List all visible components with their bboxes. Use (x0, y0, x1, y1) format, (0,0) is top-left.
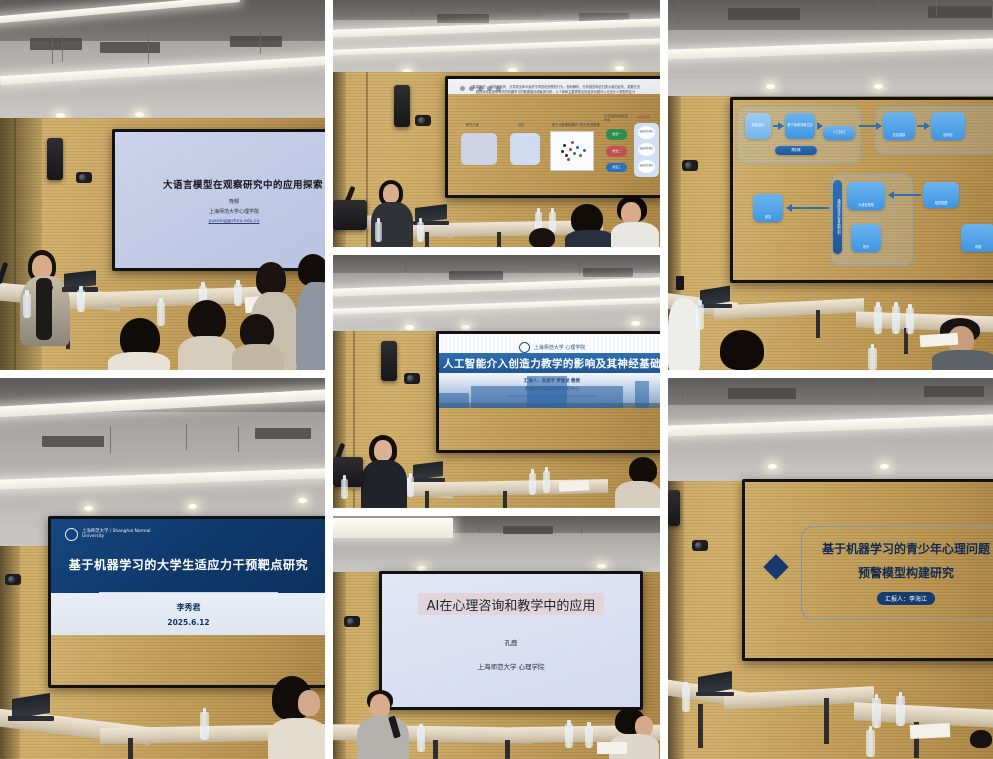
toolbar-icon (460, 86, 465, 91)
slide-cluster-box: 类型一 (606, 129, 627, 140)
table-leg (497, 232, 501, 247)
downlight (597, 564, 606, 569)
diamond-accent (763, 554, 788, 579)
wall-speaker (668, 490, 680, 526)
room-scene: AI在心理咨询和教学中的应用 孔鹿 上海师范大学 心理学院 (333, 516, 660, 759)
water-bottle (407, 477, 414, 497)
slide-title-line-2: 预警模型构建研究 (858, 565, 954, 582)
head (298, 690, 320, 716)
torso (108, 352, 170, 370)
ceiling-vent (728, 8, 800, 20)
photo-top-middle[interactable]: "集成效应"、风险的症状、分异类全体中最终不同的检测预知行为，剖析解析，分析描述… (333, 0, 660, 247)
torso (615, 481, 660, 507)
water-bottle (565, 724, 573, 748)
audience-member (525, 228, 565, 247)
logo-text: 上海师范大学 / Shanghai Normal University (82, 530, 160, 540)
ceiling-rod (878, 378, 879, 396)
photo-top-right[interactable]: 原始语料 基于领域词典过滤 人工标注 预训练 信息抽取 结构化 大语言模型 相关… (668, 0, 993, 370)
scatter-plot (550, 131, 594, 171)
data-point (573, 152, 576, 155)
wall-speaker (394, 85, 410, 127)
av-equipment (333, 200, 367, 230)
document (559, 481, 589, 493)
slide-footer: 李秀君 2025.6.12 (51, 593, 325, 635)
downlight (766, 84, 775, 89)
campus-building (635, 381, 649, 408)
water-bottle (200, 712, 209, 740)
toolbar-icon (496, 86, 501, 91)
downlight (880, 464, 889, 469)
campus-building (439, 393, 469, 408)
water-bottle (872, 698, 881, 728)
phone (676, 276, 684, 290)
audience-member (565, 204, 615, 247)
ceiling-camera (415, 115, 431, 126)
hair (256, 262, 286, 296)
ceiling-rod (405, 255, 406, 273)
ceiling-camera (5, 574, 21, 585)
audience-member (268, 676, 325, 759)
data-point (579, 154, 582, 157)
audience-member (611, 196, 659, 247)
ceiling-rod (579, 255, 580, 275)
ceiling-camera (76, 172, 92, 183)
water-bottle (696, 304, 704, 330)
flow-node-reply: 回复 (753, 194, 783, 222)
toolbar-icon (487, 86, 492, 91)
head (370, 694, 390, 718)
torso (357, 716, 409, 759)
flow-node-related-data: 相关数据 (923, 182, 959, 208)
data-point (569, 148, 572, 151)
torso (268, 718, 325, 759)
ceiling-rod (186, 424, 187, 450)
water-bottle (892, 306, 900, 334)
slide-title-band: AI在心理咨询和教学中的应用 (418, 593, 604, 615)
slide-content: 上海师范大学 / Shanghai Normal University 基于机器… (51, 519, 325, 635)
ceiling-vent (30, 38, 82, 50)
flow-node-llm: 大语言模型 (847, 182, 885, 210)
ceiling-rod (62, 36, 63, 62)
document (910, 723, 951, 739)
data-point (571, 141, 574, 144)
downlight (768, 464, 777, 469)
campus-illustration (439, 370, 660, 408)
ceiling-camera (404, 373, 420, 384)
collage-column-1: 大语言模型在观察研究中的应用探索 熊郁 上海师范大学心理学院 yuxiong@s… (0, 0, 325, 759)
table-leg (816, 310, 820, 338)
ceiling-rod (936, 0, 937, 16)
slide-col-header: 基于大数据机器学习的分布类数据 (552, 122, 600, 127)
data-point (563, 144, 566, 147)
head (383, 184, 399, 203)
hair (970, 730, 992, 748)
ceiling-vent (255, 428, 311, 439)
data-point (565, 154, 568, 157)
table-leg (505, 740, 510, 759)
slide-col-header: 临床表现 (638, 115, 650, 119)
audience-member (968, 730, 993, 759)
slide-presenter: 熊郁 (229, 198, 239, 205)
ceiling-vent (728, 388, 796, 399)
presentation-screen: 上海师范大学 / Shanghai Normal University 基于机器… (48, 516, 325, 688)
laptop (696, 674, 734, 698)
room-scene: 大语言模型在观察研究中的应用探索 熊郁 上海师范大学心理学院 yuxiong@s… (0, 0, 325, 370)
water-bottle (866, 730, 875, 757)
laptop (8, 696, 52, 722)
data-point (561, 150, 564, 153)
flow-arrow (889, 194, 921, 196)
campus-building (527, 376, 567, 408)
ceiling-vent (583, 268, 633, 277)
ceiling-camera (682, 160, 698, 171)
room-scene: 基于机器学习的青少年心理问题 预警模型构建研究 汇报人：李海江 2025.06.… (668, 378, 993, 759)
audience-member (296, 254, 325, 370)
slide-content: AI在心理咨询和教学中的应用 孔鹿 上海师范大学 心理学院 (382, 574, 640, 707)
room-scene: 上海师范大学 / Shanghai Normal University 基于机器… (0, 378, 325, 759)
slide-col-header: 基于临床的潜在症状型 (604, 115, 628, 122)
ceiling-vent (928, 6, 992, 18)
flow-arrow (859, 125, 881, 127)
table-leg (824, 698, 829, 744)
audience-member (232, 314, 284, 370)
ceiling-rod (148, 34, 149, 64)
slide-title-line-1: 基于机器学习的青少年心理问题 (822, 541, 990, 558)
slide-outcome-bubble: 临床评估预后 (638, 160, 655, 173)
water-bottle (23, 294, 31, 318)
wall-speaker (47, 138, 63, 180)
water-bottle (543, 471, 550, 493)
flow-node-assessment: 通用情境评估及意图识别 (833, 180, 842, 254)
audience-member (615, 457, 660, 507)
photo-collage: 大语言模型在观察研究中的应用探索 熊郁 上海师范大学心理学院 yuxiong@s… (0, 0, 993, 759)
slide-title: 基于机器学习的大学生适应力干预靶点研究 (51, 556, 325, 573)
photo-bottom-right[interactable]: 基于机器学习的青少年心理问题 预警模型构建研究 汇报人：李海江 2025.06.… (668, 378, 993, 759)
audience-member (716, 330, 782, 370)
ceiling-vent (42, 436, 104, 447)
slide-card: 基于机器学习的青少年心理问题 预警模型构建研究 汇报人：李海江 (801, 526, 993, 620)
water-bottle (874, 306, 882, 334)
flow-arrow (817, 125, 822, 127)
flow-arrow (917, 125, 929, 127)
data-point (567, 158, 570, 161)
slide-presenter: 孔鹿 (505, 637, 518, 647)
presentation-screen: 大语言模型在观察研究中的应用探索 熊郁 上海师范大学心理学院 yuxiong@s… (112, 129, 325, 271)
flow-node-instruction: 指令 (851, 224, 881, 252)
torso (565, 230, 615, 247)
data-point (583, 149, 586, 152)
ceiling-vent (924, 386, 984, 397)
ceiling-rod (110, 426, 111, 454)
slide-content: 大语言模型在观察研究中的应用探索 熊郁 上海师范大学心理学院 yuxiong@s… (115, 132, 325, 268)
seal-icon (65, 528, 78, 541)
presentation-screen: AI在心理咨询和教学中的应用 孔鹿 上海师范大学 心理学院 (379, 571, 643, 710)
photo-bottom-middle[interactable]: AI在心理咨询和教学中的应用 孔鹿 上海师范大学 心理学院 (333, 516, 660, 759)
water-bottle (682, 686, 690, 712)
ceiling-rod (682, 378, 683, 402)
downlight (56, 113, 65, 118)
torso (932, 350, 993, 370)
torso (361, 460, 407, 507)
university-logo: 上海师范大学 心理学院 (439, 342, 660, 353)
room-scene: 原始语料 基于领域词典过滤 人工标注 预训练 信息抽取 结构化 大语言模型 相关… (668, 0, 993, 370)
flow-node-dictionary-filter: 基于领域词典过滤 (785, 113, 815, 139)
table-leg (503, 491, 507, 507)
table-leg (425, 232, 429, 247)
torso (178, 336, 236, 370)
torso (611, 222, 659, 247)
ceiling-rod (411, 0, 412, 16)
hair (529, 228, 555, 247)
laptop-base (8, 716, 54, 721)
toolbar-icon (469, 86, 474, 91)
slide-col-header: 评估 (518, 122, 524, 127)
audience-member (178, 300, 236, 370)
photo-top-left[interactable]: 大语言模型在观察研究中的应用探索 熊郁 上海师范大学心理学院 yuxiong@s… (0, 0, 325, 370)
laptop-base (696, 692, 734, 696)
slide-affiliation: 上海师范大学 心理学院 (477, 661, 544, 671)
ceiling-vent (503, 526, 553, 534)
head (621, 202, 641, 224)
slide-panel-measures (510, 133, 540, 165)
photo-middle-center[interactable]: 上海师范大学 心理学院 人工智能介入创造力教学的影响及其神经基础 汇报人：朱思宇… (333, 255, 660, 507)
ceiling-vent (230, 36, 282, 47)
water-bottle (375, 222, 382, 242)
head (374, 440, 392, 461)
flow-node-raw-corpus: 原始语料 (745, 113, 771, 139)
collage-column-3: 原始语料 基于领域词典过滤 人工标注 预训练 信息抽取 结构化 大语言模型 相关… (668, 0, 993, 759)
ceiling-light-strip (333, 518, 453, 538)
photo-bottom-left[interactable]: 上海师范大学 / Shanghai Normal University 基于机器… (0, 378, 325, 759)
audience-member (108, 318, 170, 370)
table-leg (425, 491, 429, 507)
water-bottle (417, 222, 424, 242)
ceiling-rod (52, 36, 53, 64)
collage-column-2: "集成效应"、风险的症状、分异类全体中最终不同的检测预知行为，剖析解析，分析描述… (333, 0, 660, 759)
water-bottle (529, 473, 536, 495)
ceiling-vent (100, 42, 160, 53)
slide-content: 上海师范大学 心理学院 人工智能介入创造力教学的影响及其神经基础 汇报人：朱思宇… (439, 334, 660, 403)
downlight (135, 112, 144, 117)
torso (296, 282, 325, 370)
water-bottle (341, 479, 348, 499)
ceiling-rod (537, 0, 538, 18)
hair (188, 300, 226, 340)
water-bottle (585, 726, 593, 748)
flow-node-question: 问题 (961, 224, 993, 252)
slide-outcome-bubble: 临床评估预后 (638, 143, 655, 156)
ceiling-vent (449, 271, 503, 280)
flow-arrow (787, 207, 829, 209)
ceiling-rod (678, 0, 679, 24)
ceiling-vent (437, 14, 489, 23)
presenter (361, 435, 407, 507)
university-logo: 上海师范大学 / Shanghai Normal University (65, 528, 325, 541)
slide-panel-methods (461, 133, 497, 165)
hair (720, 330, 764, 370)
flow-arrow (773, 125, 783, 127)
ceiling-camera (692, 540, 708, 551)
toolbar-icon (478, 86, 483, 91)
flow-node-manual-annotation: 人工标注 (823, 126, 855, 140)
document (597, 742, 627, 754)
downlight (874, 84, 883, 89)
slide-toolbar (460, 86, 501, 91)
presentation-screen: 原始语料 基于领域词典过滤 人工标注 预训练 信息抽取 结构化 大语言模型 相关… (730, 97, 993, 283)
logo-text: 上海师范大学 心理学院 (534, 344, 586, 351)
room-scene: "集成效应"、风险的症状、分异类全体中最终不同的检测预知行为，剖析解析，分析描述… (333, 0, 660, 247)
downlight (298, 498, 307, 503)
water-bottle (77, 290, 85, 312)
slide-title: AI在心理咨询和教学中的应用 (427, 595, 596, 614)
water-bottle (906, 308, 914, 334)
flow-node-info-extraction: 信息抽取 (883, 112, 915, 140)
table-leg (698, 704, 703, 748)
room-scene: 上海师范大学 心理学院 人工智能介入创造力教学的影响及其神经基础 汇报人：朱思宇… (333, 255, 660, 507)
downlight (417, 566, 426, 571)
slide-cluster-box: 类型二 (606, 146, 627, 157)
seal-icon (519, 342, 530, 353)
slide-email: yuxiong@shnu.edu.cn (209, 219, 260, 224)
flow-node-pretraining: 预训练 (775, 146, 817, 155)
water-bottle (896, 696, 905, 726)
laptop (411, 463, 445, 485)
ceiling-rod (581, 516, 582, 534)
ceiling-camera (344, 616, 360, 627)
slide-content: "集成效应"、风险的症状、分异类全体中最终不同的检测预知行为，剖析解析，分析描述… (448, 79, 660, 94)
wall-speaker (381, 341, 397, 381)
ceiling-rod (238, 426, 239, 452)
presentation-screen: 上海师范大学 心理学院 人工智能介入创造力教学的影响及其神经基础 汇报人：朱思宇… (436, 331, 660, 453)
table-leg (128, 738, 133, 759)
water-bottle (417, 728, 425, 752)
slide-title: 大语言模型在观察研究中的应用探索 (163, 177, 323, 191)
slide-cluster-box: 类型三 (606, 163, 627, 172)
head (635, 716, 653, 736)
slide-date: 2025.6.12 (167, 618, 209, 627)
downlight (188, 504, 197, 509)
wall-seam (14, 118, 16, 370)
data-point (576, 146, 579, 149)
downlight (84, 506, 93, 511)
presentation-screen: 基于机器学习的青少年心理问题 预警模型构建研究 汇报人：李海江 2025.06.… (742, 479, 993, 661)
table-leg (433, 740, 438, 759)
water-bottle (868, 348, 877, 370)
slide-presenter-pill: 汇报人：李海江 (877, 592, 935, 605)
presenter (357, 690, 409, 759)
ceiling-rod (260, 30, 261, 54)
ceiling-rod (878, 0, 879, 18)
slide-outcome-bubble: 临床评估预后 (638, 126, 655, 139)
slide-affiliation: 上海师范大学心理学院 (209, 208, 259, 215)
downlight (615, 66, 624, 71)
flow-node-structuring: 结构化 (931, 112, 965, 140)
slide-col-header: 研究方案 (466, 122, 479, 127)
hair (629, 457, 657, 483)
presentation-screen: "集成效应"、风险的症状、分异类全体中最终不同的检测预知行为，剖析解析，分析描述… (445, 76, 660, 198)
av-equipment (333, 457, 363, 487)
slide-presenter: 李秀君 (177, 602, 201, 613)
hair (240, 314, 274, 348)
laptop-base (411, 478, 445, 482)
ceiling-rod (479, 516, 480, 532)
torso (232, 344, 284, 370)
